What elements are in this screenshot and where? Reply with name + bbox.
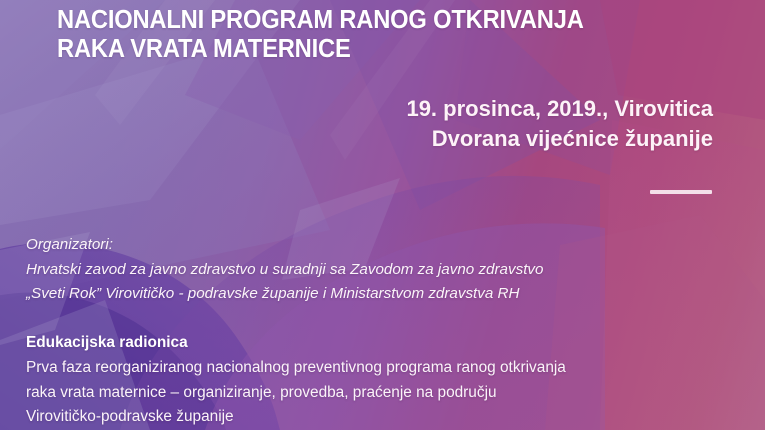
presentation-slide: NACIONALNI PROGRAM RANOG OTKRIVANJA RAKA… [0,0,765,430]
workshop-line-3: Virovitičko-podravske županije [26,405,566,430]
event-date-place: 19. prosinca, 2019., Virovitica [406,94,713,124]
workshop-line-1: Prva faza reorganiziranog nacionalnog pr… [26,356,566,381]
organizers-label: Organizatori: [26,233,543,258]
slide-text-layer: NACIONALNI PROGRAM RANOG OTKRIVANJA RAKA… [0,0,765,430]
organizers-line-2: „Sveti Rok” Virovitičko - podravske župa… [26,282,543,307]
workshop-line-2: raka vrata maternice – organiziranje, pr… [26,381,566,406]
event-details: 19. prosinca, 2019., Virovitica Dvorana … [406,94,713,154]
organizers-block: Organizatori: Hrvatski zavod za javno zd… [26,233,543,307]
event-venue: Dvorana vijećnice županije [406,124,713,154]
organizers-line-1: Hrvatski zavod za javno zdravstvo u sura… [26,258,543,283]
workshop-title: Edukacijska radionica [26,330,566,355]
divider-rule [650,190,712,194]
page-title: NACIONALNI PROGRAM RANOG OTKRIVANJA RAKA… [57,6,671,64]
workshop-block: Edukacijska radionica Prva faza reorgani… [26,330,566,430]
page-title-line-1: NACIONALNI PROGRAM RANOG OTKRIVANJA [57,6,671,35]
page-title-line-2: RAKA VRATA MATERNICE [57,35,671,64]
